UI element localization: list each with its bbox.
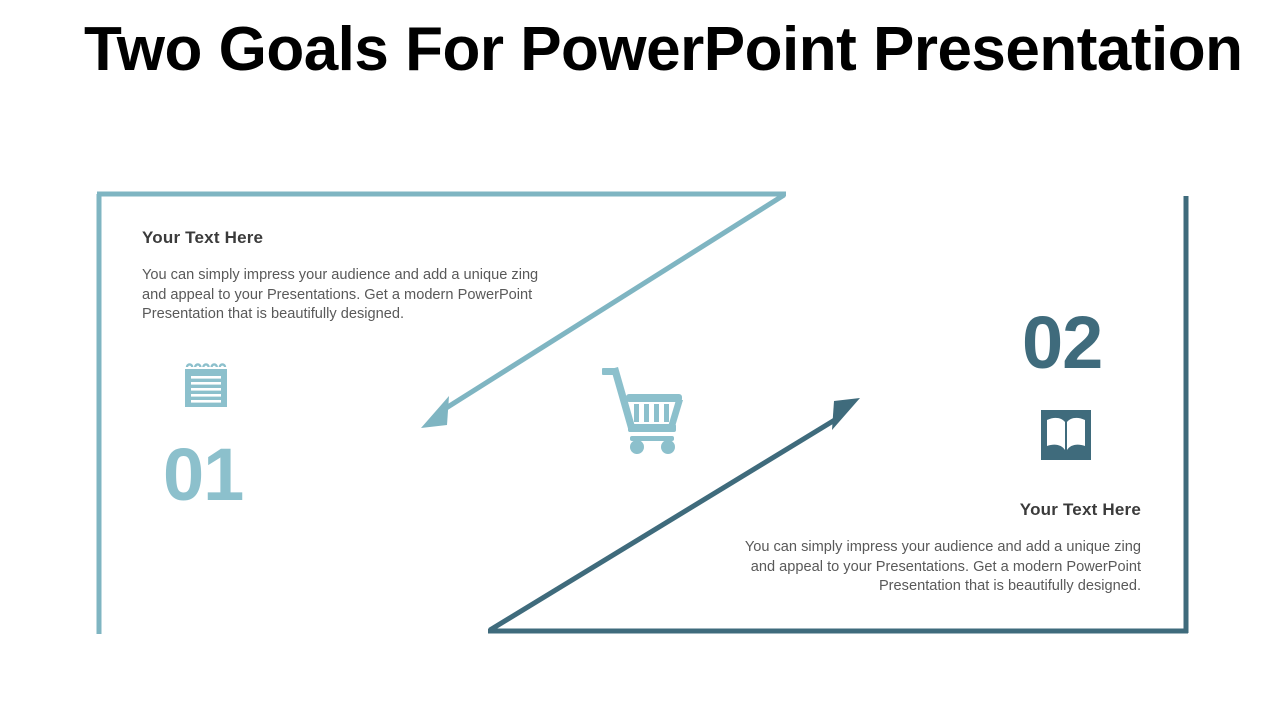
page-title: Two Goals For PowerPoint Presentation (84, 14, 1204, 86)
goal-02-number: 02 (1022, 306, 1102, 380)
slide-canvas: Two Goals For PowerPoint Presentation (0, 0, 1280, 720)
notepad-icon-glyph (181, 361, 231, 411)
goal-02-text-block: Your Text Here You can simply impress yo… (735, 500, 1141, 597)
shopping-cart-icon (600, 364, 684, 454)
goal-01-body: You can simply impress your audience and… (142, 266, 546, 325)
shopping-cart-icon-glyph (600, 364, 684, 454)
goal-02-body: You can simply impress your audience and… (735, 538, 1141, 597)
open-book-icon-glyph (1041, 410, 1091, 460)
light-arrowhead (421, 396, 449, 428)
goal-02-heading: Your Text Here (735, 500, 1141, 520)
goal-01-number: 01 (163, 438, 243, 512)
notepad-icon (181, 361, 231, 411)
dark-arrowhead (832, 398, 860, 430)
goal-01-text-block: Your Text Here You can simply impress yo… (142, 228, 546, 325)
goal-01-heading: Your Text Here (142, 228, 546, 248)
open-book-icon (1041, 410, 1091, 460)
